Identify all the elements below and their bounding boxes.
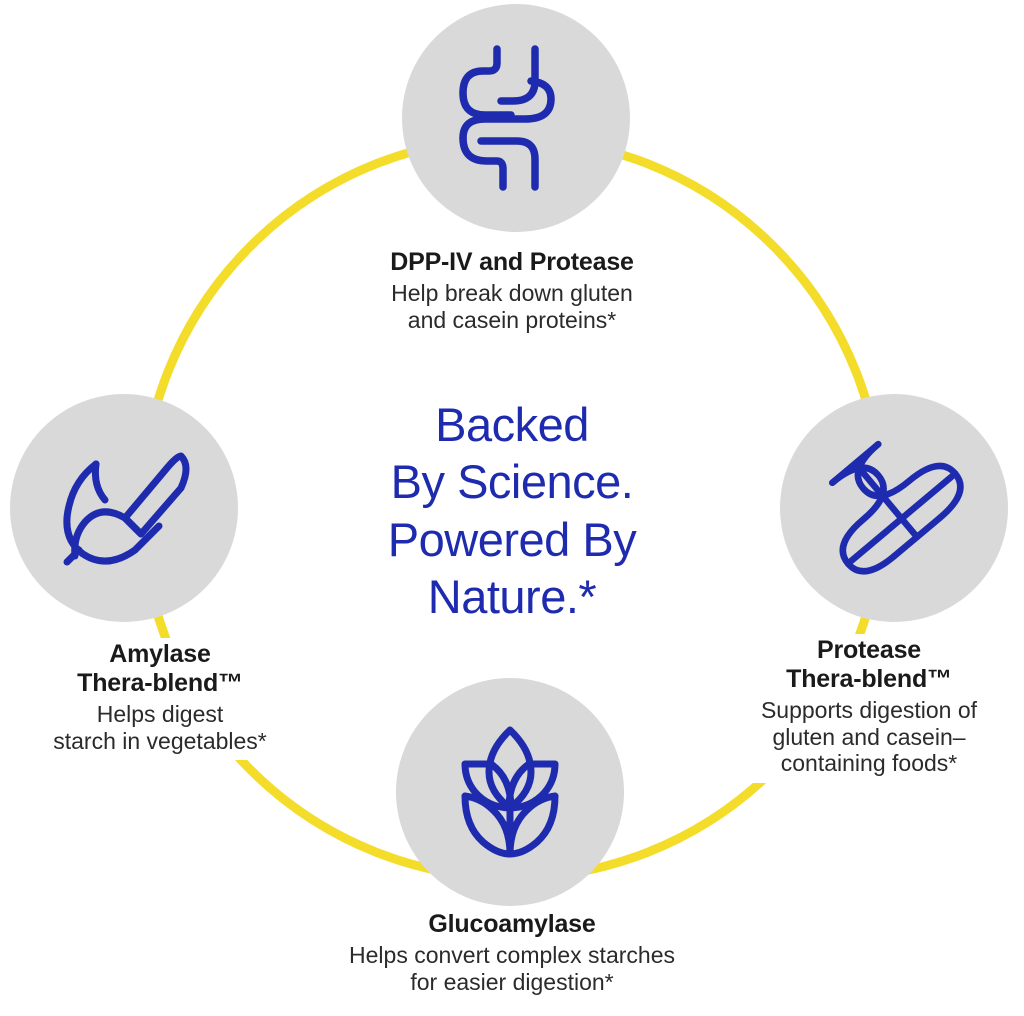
intestine-icon xyxy=(451,43,581,193)
label-top-description: Help break down gluten and casein protei… xyxy=(282,280,742,333)
label-left-title-line2: Thera-blend™ xyxy=(0,669,320,698)
wheat-plant-icon xyxy=(445,726,575,858)
node-circle-right xyxy=(780,394,1008,622)
enzyme-benefits-infographic: DPP-IV and Protease Help break down glut… xyxy=(0,0,1024,1016)
label-left: Amylase Thera-blend™ Helps digest starch… xyxy=(0,638,324,760)
label-right: Protease Thera-blend™ Supports digestion… xyxy=(706,634,1024,783)
node-circle-top xyxy=(402,4,630,232)
label-right-title-line2: Thera-blend™ xyxy=(710,665,1024,694)
label-top: DPP-IV and Protease Help break down glut… xyxy=(282,246,742,337)
headline-line-2: By Science. xyxy=(292,453,732,510)
headline-line-4: Nature.* xyxy=(292,568,732,625)
label-top-title: DPP-IV and Protease xyxy=(282,248,742,277)
label-right-title-line1: Protease xyxy=(710,636,1024,665)
center-headline: Backed By Science. Powered By Nature.* xyxy=(292,396,732,625)
corn-icon xyxy=(49,438,199,578)
headline-line-3: Powered By xyxy=(292,511,732,568)
label-left-title-line1: Amylase xyxy=(0,640,320,669)
label-left-description: Helps digest starch in vegetables* xyxy=(0,701,320,754)
dna-helix-icon xyxy=(819,433,969,583)
label-bottom-title: Glucoamylase xyxy=(252,910,772,939)
node-circle-bottom xyxy=(396,678,624,906)
label-right-description: Supports digestion of gluten and casein–… xyxy=(710,697,1024,777)
label-bottom: Glucoamylase Helps convert complex starc… xyxy=(252,908,772,999)
label-bottom-description: Helps convert complex starches for easie… xyxy=(252,942,772,995)
node-circle-left xyxy=(10,394,238,622)
headline-line-1: Backed xyxy=(292,396,732,453)
